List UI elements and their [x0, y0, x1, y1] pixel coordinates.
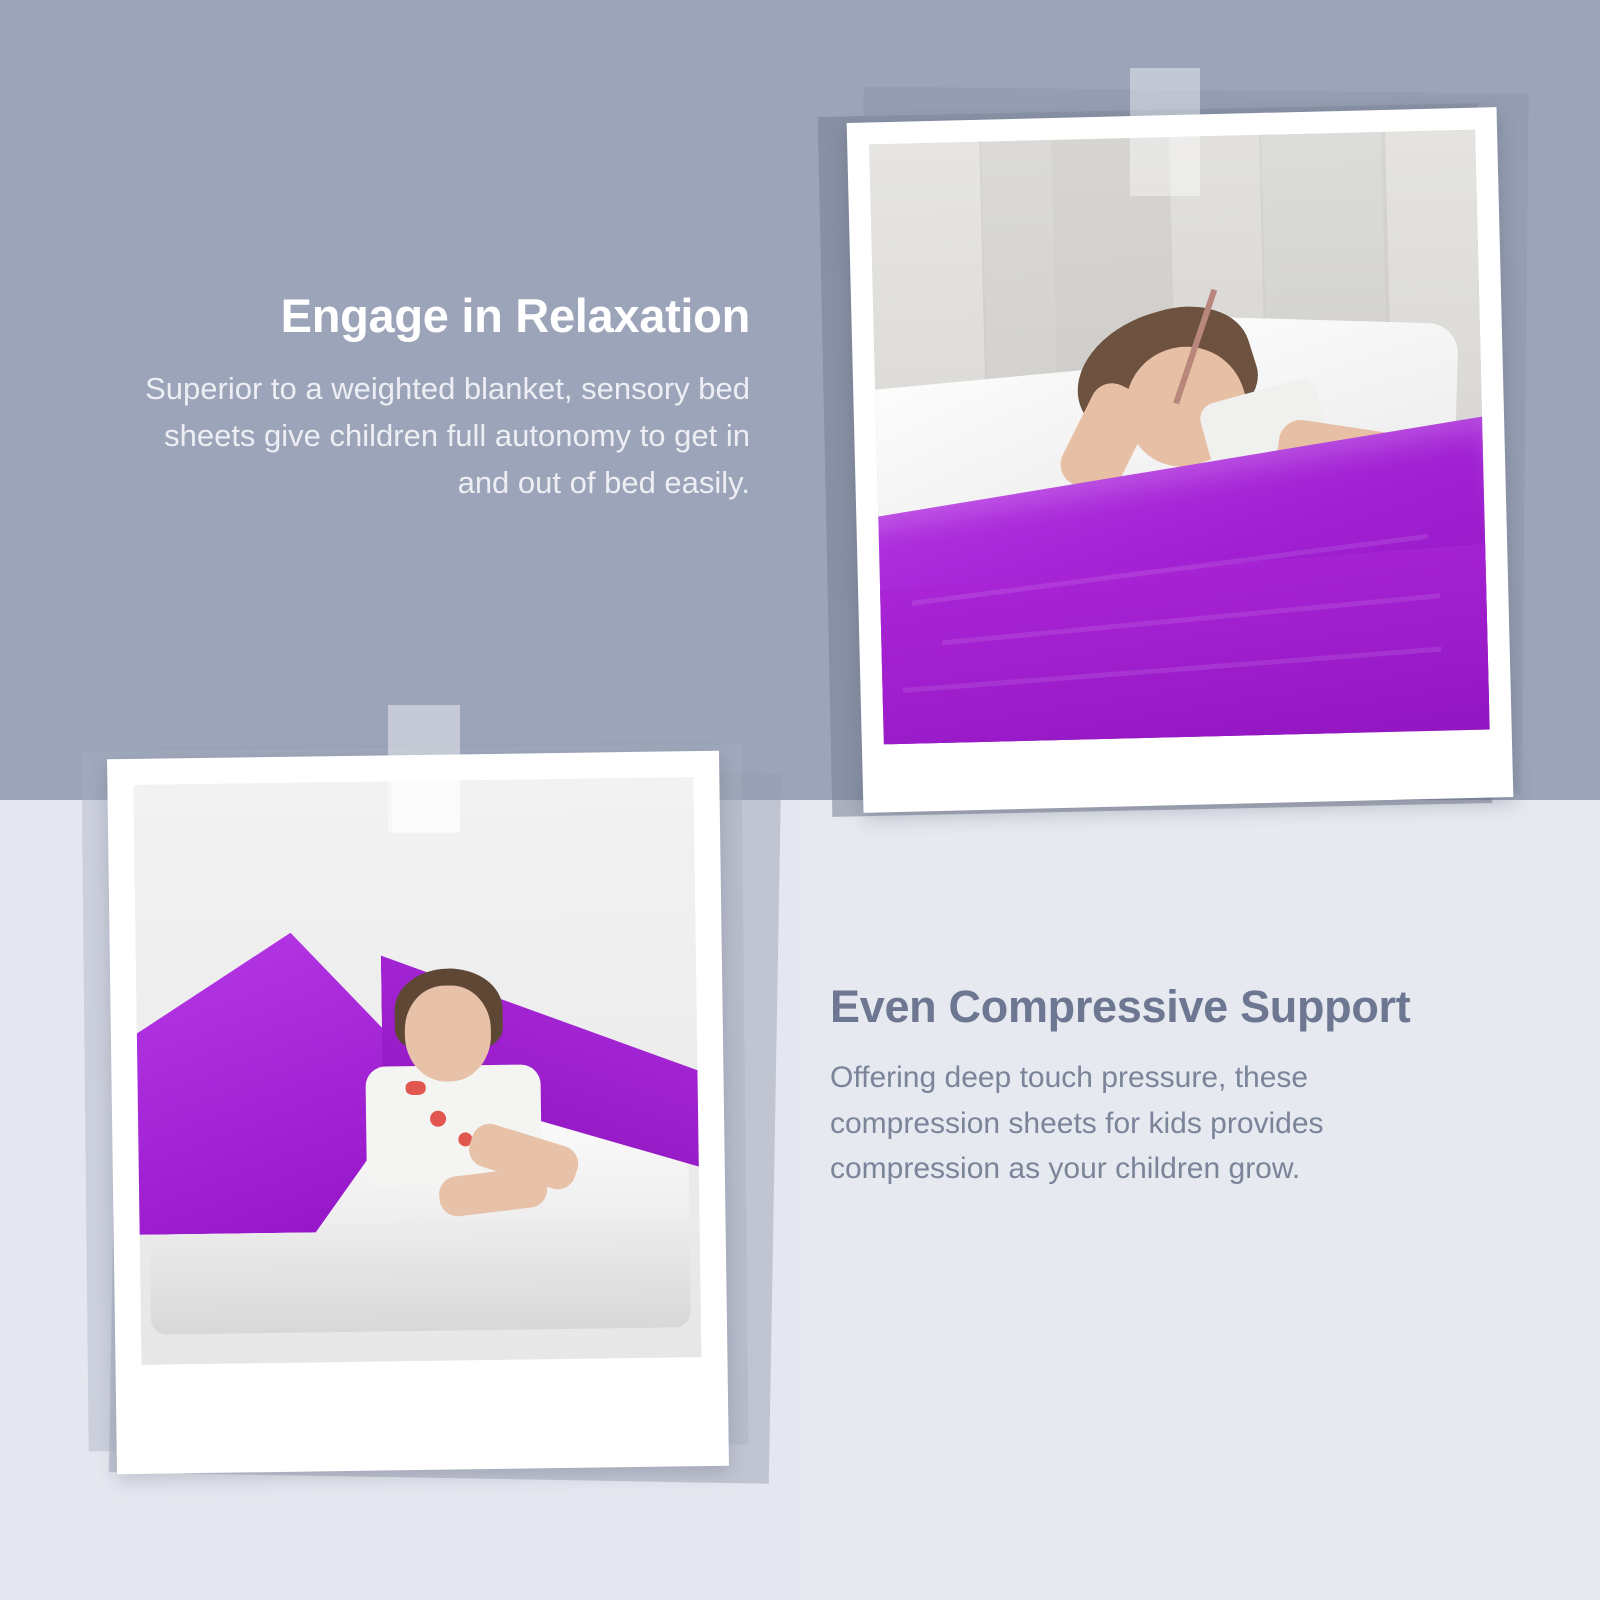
heading-engage-in-relaxation: Engage in Relaxation — [120, 290, 750, 343]
photo-shirt-ruffle — [406, 1081, 426, 1095]
tape-strip-bottom-highlight — [392, 770, 460, 832]
text-block-compressive-support: Even Compressive Support Offering deep t… — [830, 980, 1470, 1192]
photo-shirt-dot-1 — [430, 1111, 446, 1127]
polaroid-frame-bottom — [107, 751, 729, 1474]
body-even-compressive-support: Offering deep touch pressure, these comp… — [830, 1055, 1470, 1192]
photo-girl-on-mattress — [133, 777, 701, 1365]
photo-mattress-side — [150, 1217, 691, 1335]
photo-card-compression — [85, 728, 805, 1488]
background-bottom-right-panel — [800, 800, 1600, 1600]
polaroid-frame-top — [847, 107, 1514, 813]
body-engage-in-relaxation: Superior to a weighted blanket, sensory … — [120, 365, 750, 506]
text-block-relaxation: Engage in Relaxation Superior to a weigh… — [120, 290, 750, 506]
photo-card-relaxation — [825, 85, 1525, 830]
photo-girl-sleeping — [869, 130, 1489, 745]
tape-strip-top — [1130, 68, 1200, 196]
photo-girl-face-2 — [404, 985, 491, 1082]
heading-even-compressive-support: Even Compressive Support — [830, 980, 1470, 1033]
